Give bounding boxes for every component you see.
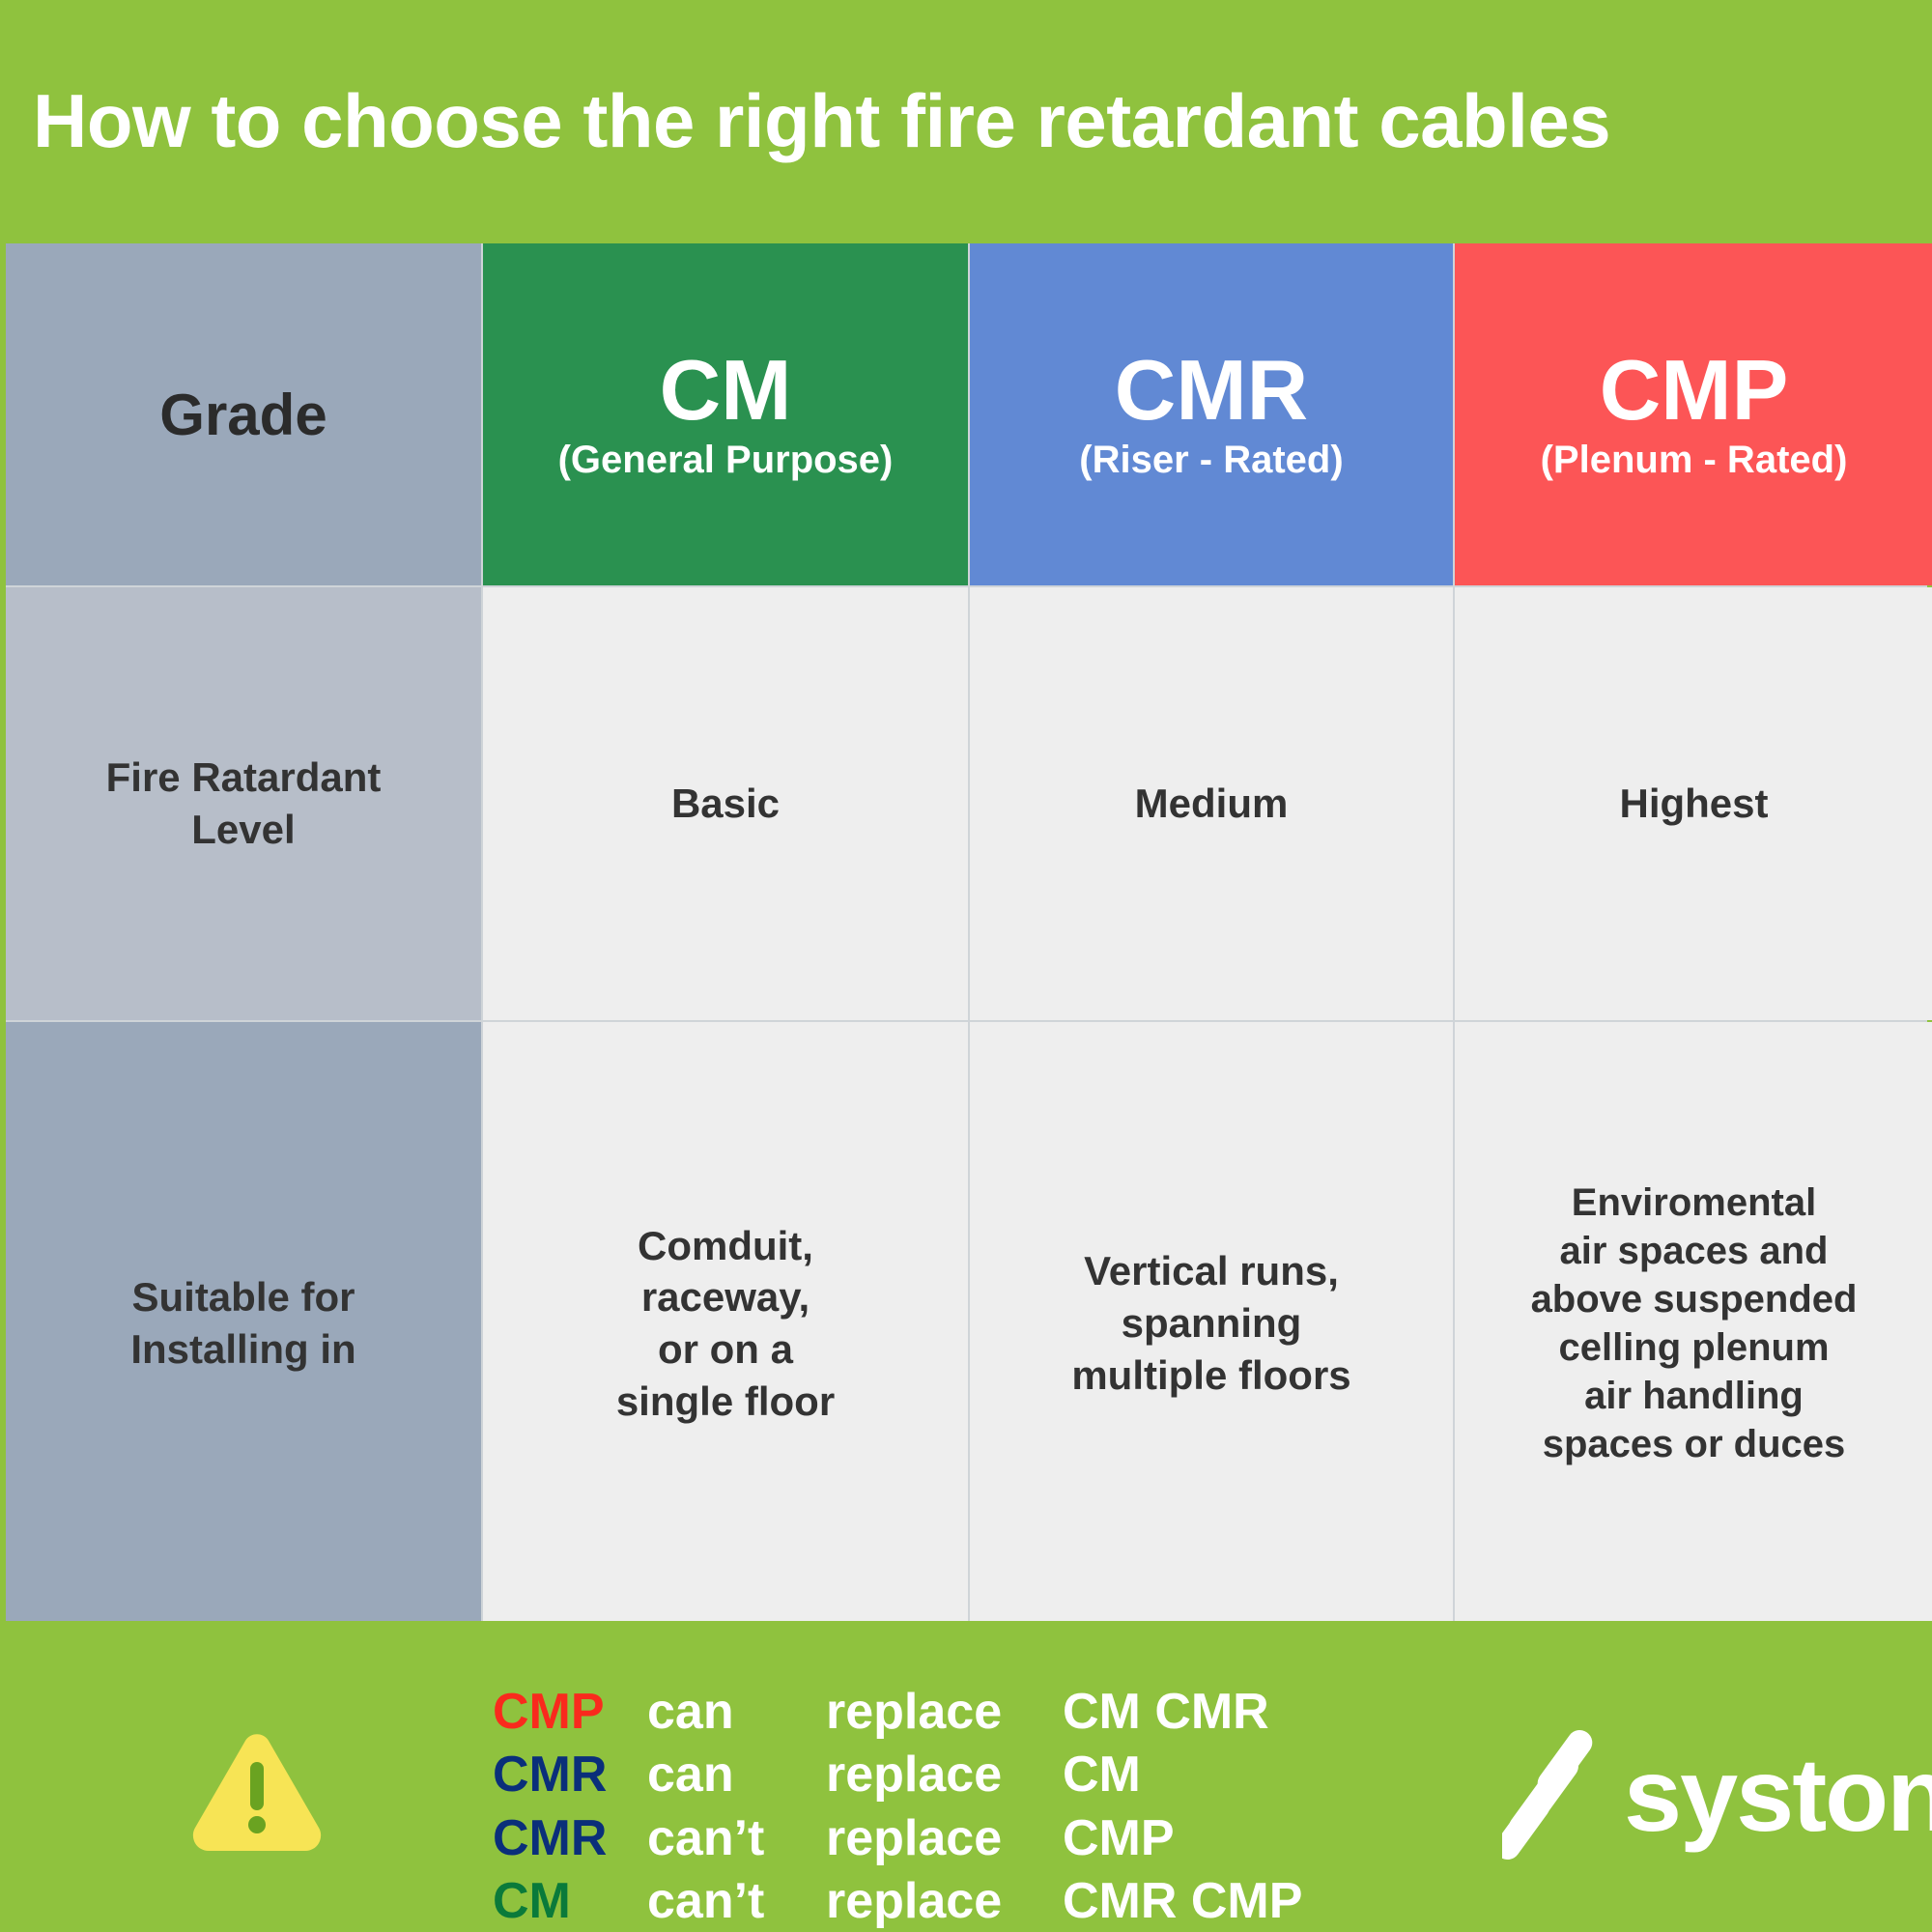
cell-value: Comduit, raceway, or on a single floor (616, 1220, 835, 1428)
row-label-text: Suitable for Installing in (130, 1271, 355, 1376)
rule-modal: can (647, 1683, 826, 1742)
cell-value: Enviromental air spaces and above suspen… (1531, 1179, 1858, 1468)
cell-value: Highest (1619, 778, 1768, 830)
cell-install-cmr: Vertical runs, spanning multiple floors (970, 1022, 1453, 1625)
cmp-code-label: CMP (1600, 348, 1789, 433)
comparison-table: Grade CM (General Purpose) CMR (Riser - … (6, 243, 1927, 1621)
rule-targets: CMR CMP (1063, 1872, 1302, 1931)
cell-fire-level-cmp: Highest (1455, 587, 1932, 1020)
brand-wordmark: syston (1624, 1743, 1932, 1847)
poster-header: How to choose the right fire retardant c… (0, 0, 1932, 241)
grade-header-label: Grade (159, 382, 327, 448)
rule-targets: CM (1063, 1746, 1302, 1804)
cell-install-cm: Comduit, raceway, or on a single floor (483, 1022, 968, 1625)
rule-targets: CMP (1063, 1809, 1302, 1868)
cm-subtitle: (General Purpose) (558, 439, 894, 481)
table-row-label-suitable-for-installing-in: Suitable for Installing in (6, 1022, 481, 1625)
rule-row: CMR can replace CM (493, 1746, 1302, 1804)
warning-triangle-icon (189, 1729, 325, 1853)
table-header-grade: Grade (6, 243, 481, 585)
table-header-cmp: CMP (Plenum - Rated) (1455, 243, 1932, 585)
cmp-subtitle: (Plenum - Rated) (1541, 439, 1848, 481)
rule-grade: CMR (493, 1809, 647, 1868)
table-header-cmr: CMR (Riser - Rated) (970, 243, 1453, 585)
rule-verb: replace (826, 1683, 1063, 1742)
replacement-rules-list: CMP can replace CM CMR CMR can replace C… (493, 1683, 1302, 1931)
infographic-poster: How to choose the right fire retardant c… (0, 0, 1932, 1932)
cell-value: Vertical runs, spanning multiple floors (1071, 1245, 1350, 1401)
table-header-cm: CM (General Purpose) (483, 243, 968, 585)
rule-targets: CM CMR (1063, 1683, 1302, 1742)
rule-row: CMR can’t replace CMP (493, 1809, 1302, 1868)
rule-verb: replace (826, 1872, 1063, 1931)
cell-install-cmp: Enviromental air spaces and above suspen… (1455, 1022, 1932, 1625)
page-title: How to choose the right fire retardant c… (0, 83, 1610, 158)
brand-logo: syston (1502, 1727, 1932, 1862)
cell-value: Medium (1135, 778, 1289, 830)
rule-verb: replace (826, 1746, 1063, 1804)
rule-grade: CM (493, 1872, 647, 1931)
cell-fire-level-cm: Basic (483, 587, 968, 1020)
cm-code-label: CM (660, 348, 792, 433)
cell-fire-level-cmr: Medium (970, 587, 1453, 1020)
table-row-label-fire-retardant-level: Fire Ratardant Level (6, 587, 481, 1020)
cmr-code-label: CMR (1115, 348, 1308, 433)
cell-value: Basic (671, 778, 780, 830)
syston-logo-mark (1502, 1727, 1606, 1862)
rule-modal: can’t (647, 1872, 826, 1931)
cmr-subtitle: (Riser - Rated) (1079, 439, 1343, 481)
rule-row: CM can’t replace CMR CMP (493, 1872, 1302, 1931)
rule-modal: can’t (647, 1809, 826, 1868)
row-label-text: Fire Ratardant Level (106, 752, 382, 856)
rule-row: CMP can replace CM CMR (493, 1683, 1302, 1742)
rule-grade: CMP (493, 1683, 647, 1742)
rule-grade: CMR (493, 1746, 647, 1804)
rule-verb: replace (826, 1809, 1063, 1868)
rule-modal: can (647, 1746, 826, 1804)
